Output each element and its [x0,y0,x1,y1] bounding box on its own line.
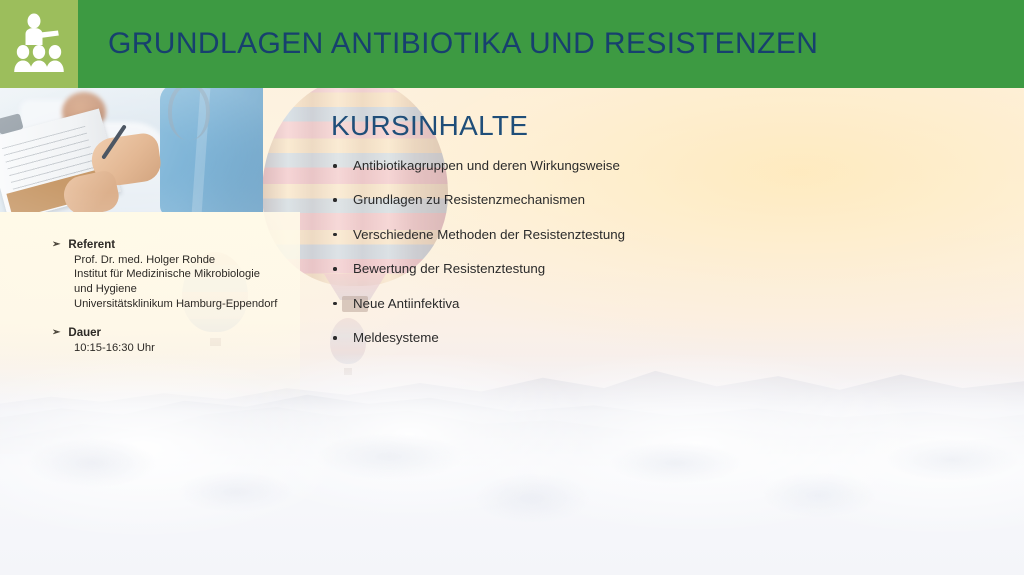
info-group-referent: ➢ Referent Prof. Dr. med. Holger Rohde I… [52,238,302,312]
info-lines: 10:15-16:30 Uhr [74,341,302,356]
bullet-dot-icon [333,198,337,202]
list-item-label: Meldesysteme [353,330,439,345]
info-lines: Prof. Dr. med. Holger Rohde Institut für… [74,253,302,313]
list-item: Verschiedene Methoden der Resistenztestu… [331,227,951,243]
medical-clipboard-photo [0,88,263,212]
info-line: Universitätsklinikum Hamburg-Eppendorf [74,297,302,312]
list-item: Neue Antiinfektiva [331,296,951,312]
arrow-bullet-icon: ➢ [52,238,60,253]
list-item: Bewertung der Resistenztestung [331,261,951,277]
course-info-block: ➢ Referent Prof. Dr. med. Holger Rohde I… [52,238,302,369]
info-heading-label: Dauer [68,326,101,340]
header-bar: GRUNDLAGEN ANTIBIOTIKA UND RESISTENZEN [0,0,1024,88]
list-item-label: Grundlagen zu Resistenzmechanismen [353,192,585,207]
photo-soft-overlay [0,88,263,212]
bullet-dot-icon [333,336,337,340]
course-contents-list: Antibiotikagruppen und deren Wirkungswei… [331,158,951,365]
info-line: und Hygiene [74,282,302,297]
bullet-dot-icon [333,267,337,271]
presenter-audience-icon [11,12,67,76]
logo-tile [0,0,78,88]
cloud-texture [0,415,1024,575]
list-item-label: Neue Antiinfektiva [353,296,459,311]
info-line: 10:15-16:30 Uhr [74,341,302,356]
info-group-dauer: ➢ Dauer 10:15-16:30 Uhr [52,326,302,355]
info-line: Institut für Medizinische Mikrobiologie [74,267,302,282]
list-item-label: Antibiotikagruppen und deren Wirkungswei… [353,158,620,173]
list-item: Grundlagen zu Resistenzmechanismen [331,192,951,208]
list-item: Meldesysteme [331,330,951,346]
info-group-heading: ➢ Dauer [52,326,302,341]
bullet-dot-icon [333,302,337,306]
content-heading: KURSINHALTE [331,110,528,142]
info-line: Prof. Dr. med. Holger Rohde [74,253,302,268]
list-item: Antibiotikagruppen und deren Wirkungswei… [331,158,951,174]
list-item-label: Verschiedene Methoden der Resistenztestu… [353,227,625,242]
slide: GRUNDLAGEN ANTIBIOTIKA UND RESISTENZEN ➢… [0,0,1024,575]
arrow-bullet-icon: ➢ [52,326,60,341]
bullet-dot-icon [333,233,337,237]
page-title: GRUNDLAGEN ANTIBIOTIKA UND RESISTENZEN [108,0,818,88]
bullet-dot-icon [333,164,337,168]
info-group-heading: ➢ Referent [52,238,302,253]
info-heading-label: Referent [68,238,115,252]
list-item-label: Bewertung der Resistenztestung [353,261,545,276]
